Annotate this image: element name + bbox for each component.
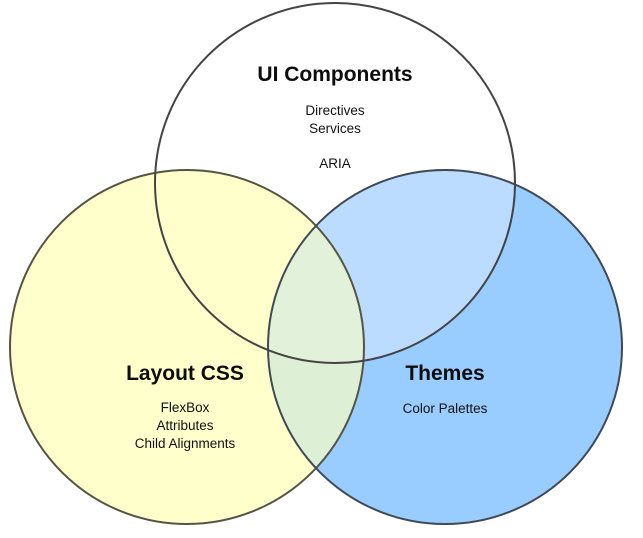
venn-diagram: UI Components Directives Services ARIA L… (0, 0, 643, 538)
venn-canvas (0, 0, 643, 538)
